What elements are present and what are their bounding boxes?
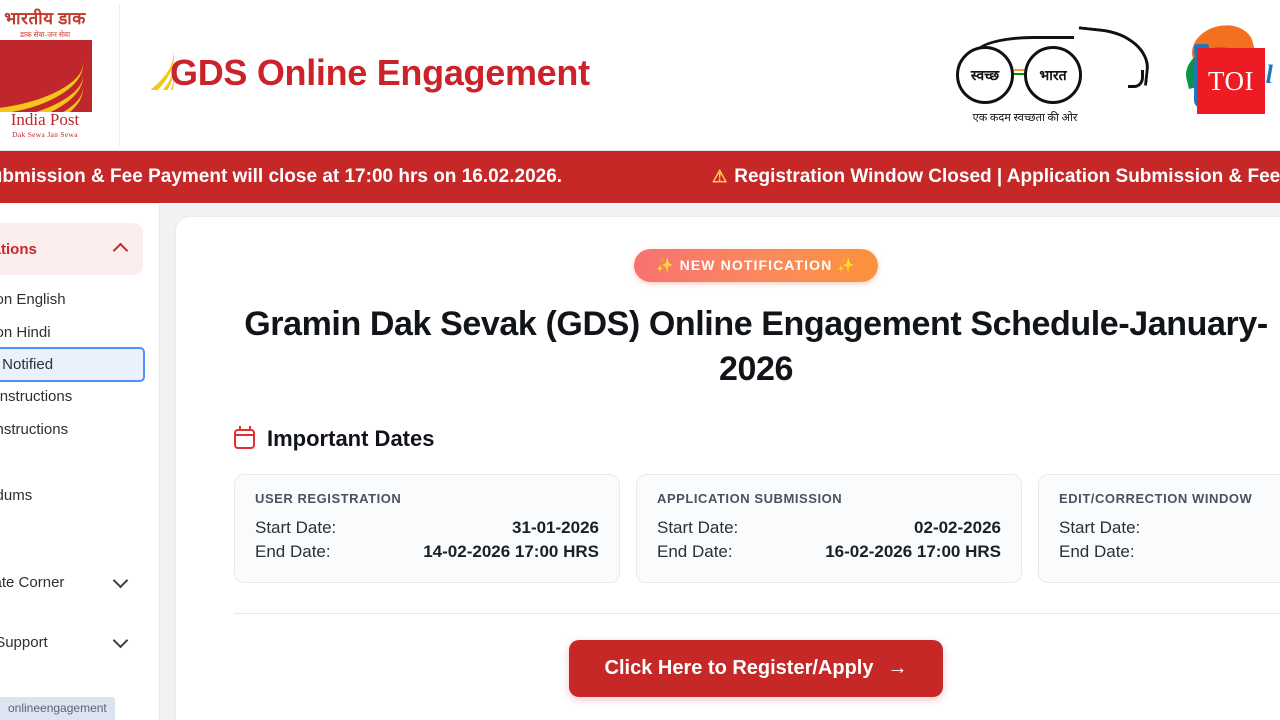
- sidebar-item-notification-hindi[interactable]: Notification Hindi: [0, 316, 143, 349]
- swachh-lens-right-icon: भारत: [1024, 46, 1082, 104]
- sidebar-accordion-notifications-label: Notifications: [0, 241, 37, 258]
- date-card-start-label: Start Date:: [255, 518, 336, 538]
- date-card-end-value: 14-02-2026 17:00 HRS: [423, 542, 599, 562]
- date-card-end-row: End Date: 14-02-2026 17:00 HRS: [255, 540, 599, 564]
- date-card-user-registration: USER REGISTRATION Start Date: 31-01-2026…: [234, 474, 620, 583]
- date-card-end-row: End Date: 19-02-2026: [1059, 540, 1280, 564]
- sidebar-accordion-notifications[interactable]: Notifications: [0, 223, 143, 275]
- date-card-start-label: Start Date:: [657, 518, 738, 538]
- sidebar-accordion-help-support-label: Help & Support: [0, 634, 48, 651]
- date-card-application-submission: APPLICATION SUBMISSION Start Date: 02-02…: [636, 474, 1022, 583]
- sidebar-accordion-candidate-corner[interactable]: Candidate Corner: [0, 556, 143, 608]
- page-title: GDS Online Engagement: [170, 52, 590, 94]
- main-content-card: ✨ NEW NOTIFICATION ✨ Gramin Dak Sevak (G…: [176, 217, 1280, 720]
- sidebar-item-circulars[interactable]: Circulars: [0, 446, 143, 479]
- date-card-end-label: End Date:: [1059, 542, 1135, 562]
- swachh-glasses-hook-icon: [1128, 70, 1144, 88]
- sidebar-accordion-candidate-corner-label: Candidate Corner: [0, 574, 64, 591]
- page-body: Notifications Notification English Notif…: [0, 205, 1280, 720]
- register-apply-button-label: Click Here to Register/Apply: [605, 657, 874, 680]
- india-post-logo[interactable]: भारतीय डाक डाक सेवा-जन सेवा India Post D…: [0, 4, 120, 146]
- content-divider: [234, 613, 1280, 614]
- date-card-start-value: 31-01-2026: [512, 518, 599, 538]
- swachh-word-right: भारत: [1027, 66, 1079, 85]
- site-header: भारतीय डाक डाक सेवा-जन सेवा India Post D…: [0, 0, 1280, 151]
- browser-status-bar: onlineengagement: [0, 697, 115, 720]
- swachh-bharat-logo: स्वच्छ भारत एक कदम स्वच्छता की ओर: [950, 24, 1155, 129]
- date-card-title: USER REGISTRATION: [255, 491, 599, 506]
- important-dates-grid: USER REGISTRATION Start Date: 31-01-2026…: [234, 474, 1280, 583]
- sidebar-spacer: [0, 512, 143, 556]
- arrow-right-icon: →: [887, 657, 907, 680]
- date-card-start-row: Start Date: 31-01-2026: [255, 516, 599, 540]
- announcement-marquee-banner: tion Submission & Fee Payment will close…: [0, 151, 1280, 205]
- date-card-end-label: End Date:: [255, 542, 331, 562]
- important-dates-header: Important Dates: [234, 426, 1280, 452]
- date-card-end-label: End Date:: [657, 542, 733, 562]
- sidebar-item-corrigendums[interactable]: Corrigendums: [0, 479, 143, 512]
- sidebar-menu-list: Notification English Notification Hindi …: [0, 283, 143, 512]
- chevron-down-icon: [113, 574, 129, 590]
- date-card-start-label: Start Date:: [1059, 518, 1140, 538]
- chevron-up-icon: [113, 241, 129, 257]
- toi-watermark-label: TOI: [1208, 66, 1254, 97]
- date-card-title: APPLICATION SUBMISSION: [657, 491, 1001, 506]
- date-card-edit-correction-window: EDIT/CORRECTION WINDOW Start Date: End D…: [1038, 474, 1280, 583]
- date-card-start-row: Start Date:: [1059, 516, 1280, 540]
- marquee-text-first: tion Submission & Fee Payment will close…: [0, 166, 562, 188]
- new-notification-badge-row: ✨ NEW NOTIFICATION ✨: [206, 249, 1280, 282]
- sidebar-item-notification-english[interactable]: Notification English: [0, 283, 143, 316]
- browser-viewport: भारतीय डाक डाक सेवा-जन सेवा India Post D…: [0, 0, 1280, 720]
- calendar-icon: [234, 429, 255, 449]
- warning-triangle-icon: ⚠: [712, 167, 727, 186]
- sidebar: Notifications Notification English Notif…: [0, 205, 160, 720]
- date-card-start-row: Start Date: 02-02-2026: [657, 516, 1001, 540]
- date-card-end-row: End Date: 16-02-2026 17:00 HRS: [657, 540, 1001, 564]
- swachh-word-left: स्वच्छ: [959, 66, 1011, 85]
- date-card-end-value: 16-02-2026 17:00 HRS: [825, 542, 1001, 562]
- india-post-devanagari-subtext: डाक सेवा-जन सेवा: [0, 30, 118, 40]
- notification-title: Gramin Dak Sevak (GDS) Online Engagement…: [206, 302, 1280, 392]
- cta-row: Click Here to Register/Apply →: [206, 640, 1280, 697]
- date-card-title: EDIT/CORRECTION WINDOW: [1059, 491, 1280, 506]
- swachh-bharat-caption: एक कदम स्वच्छता की ओर: [950, 110, 1100, 125]
- chevron-down-icon: [113, 634, 129, 650]
- sidebar-item-special-instructions[interactable]: Special Instructions: [0, 413, 143, 446]
- swachh-lens-left-icon: स्वच्छ: [956, 46, 1014, 104]
- toi-watermark: TOI: [1197, 48, 1265, 114]
- india-post-name: India Post: [0, 110, 118, 130]
- sidebar-item-divisions-notified[interactable]: Divisions Notified: [0, 349, 143, 380]
- marquee-text-second: ⚠Registration Window Closed | Applicatio…: [712, 166, 1280, 188]
- important-dates-heading: Important Dates: [267, 426, 434, 452]
- india-post-tagline: Dak Sewa Jan Sewa: [0, 130, 118, 139]
- new-notification-badge: ✨ NEW NOTIFICATION ✨: [634, 249, 878, 282]
- marquee-text-second-label: Registration Window Closed | Application…: [734, 166, 1280, 187]
- sidebar-item-general-instructions[interactable]: General Instructions: [0, 380, 143, 413]
- india-post-red-emblem: [0, 40, 92, 112]
- india-post-devanagari-text: भारतीय डाक डाक सेवा-जन सेवा: [0, 6, 118, 40]
- sidebar-accordion-help-support[interactable]: Help & Support: [0, 616, 143, 668]
- register-apply-button[interactable]: Click Here to Register/Apply →: [569, 640, 944, 697]
- date-card-start-value: 02-02-2026: [914, 518, 1001, 538]
